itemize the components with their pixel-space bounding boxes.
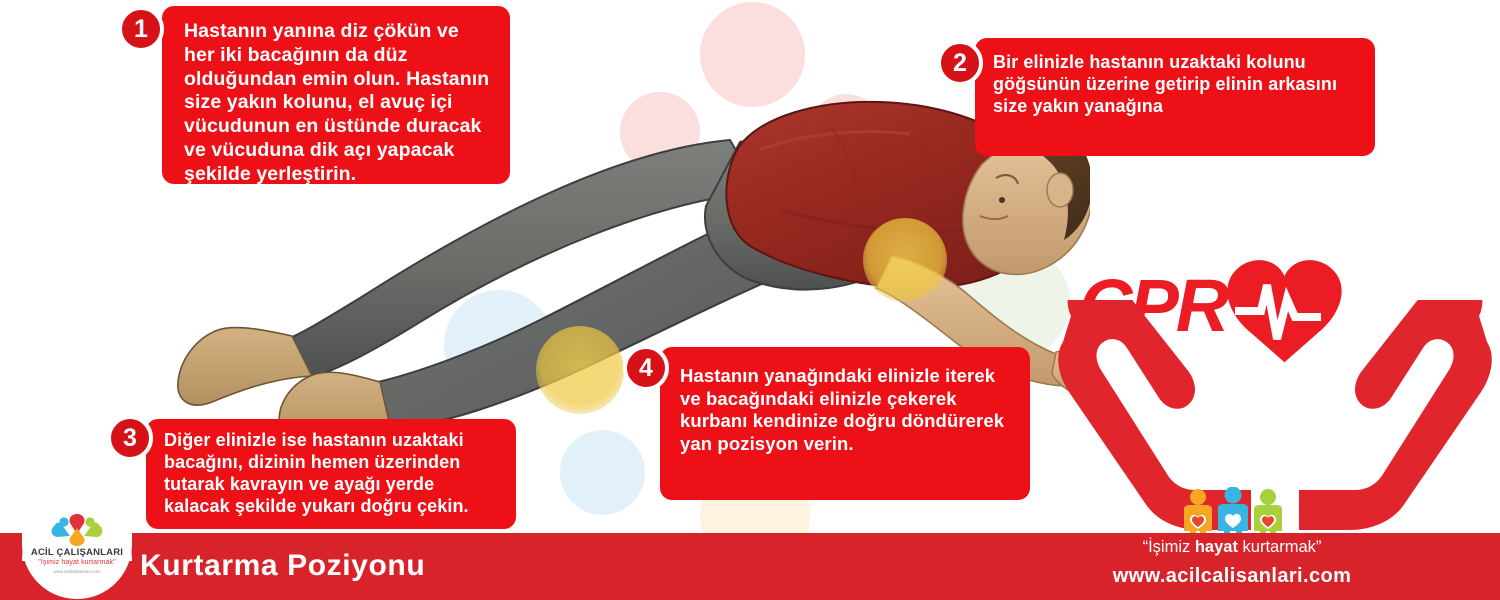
tagline-part1: İşimiz [1148, 538, 1195, 556]
cheek-highlight-circle [863, 218, 947, 302]
step-4-callout: Hastanın yanağındaki elinizle iterek ve … [660, 347, 1030, 500]
brand-slogan: "İşimiz hayat kurtarmak" [22, 559, 132, 566]
step-2-badge: 2 [937, 40, 983, 86]
infographic-poster: Hastanın yanına diz çökün ve her iki bac… [0, 0, 1500, 600]
step-2-callout: Bir elinizle hastanın uzaktaki kolunu gö… [975, 38, 1375, 156]
tagline-close-quote: ” [1316, 538, 1322, 556]
step-2-text: Bir elinizle hastanın uzaktaki kolunu gö… [993, 52, 1359, 118]
step-1-badge: 1 [118, 6, 164, 52]
footer-tagline: “İşimiz hayat kurtarmak” [1062, 538, 1402, 557]
step-3-text: Diğer elinizle ise hastanın uzaktaki bac… [164, 430, 502, 518]
knee-highlight-circle [536, 326, 624, 414]
step-4-badge: 4 [623, 345, 669, 391]
step-4-text: Hastanın yanağındaki elinizle iterek ve … [680, 365, 1014, 455]
brand-name: ACİL ÇALIŞANLARI [22, 547, 132, 558]
tagline-bold: hayat [1195, 538, 1238, 556]
page-title: Kurtarma Poziyonu [140, 549, 425, 583]
step-3-callout: Diğer elinizle ise hastanın uzaktaki bac… [146, 419, 516, 529]
footer-website[interactable]: www.acilcalisanlari.com [1062, 565, 1402, 588]
right-hand-icon [1299, 300, 1492, 530]
tagline-part2: kurtarmak [1238, 538, 1316, 556]
step-1-text: Hastanın yanına diz çökün ve her iki bac… [184, 20, 494, 186]
step-3-badge: 3 [107, 415, 153, 461]
step-1-callout: Hastanın yanına diz çökün ve her iki bac… [162, 6, 510, 184]
four-people-pinwheel-icon [48, 512, 106, 548]
brand-url: www.acilcalisanlari.com [22, 569, 132, 574]
